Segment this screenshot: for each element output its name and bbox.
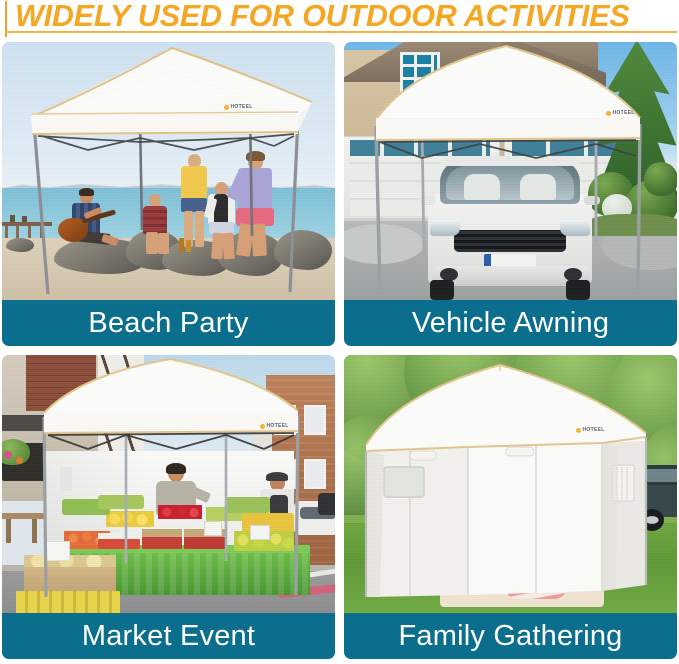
sun-icon: [576, 428, 581, 433]
brand-name: HOTEEL: [613, 110, 635, 116]
caption-vehicle-awning: Vehicle Awning: [344, 300, 677, 346]
panel-grid: HOTEEL Beach Party: [0, 42, 679, 664]
panel-family-gathering[interactable]: HOTEEL Family Gathering: [344, 355, 677, 659]
panel-beach-party[interactable]: HOTEEL Beach Party: [2, 42, 335, 346]
brand-name: HOTEEL: [231, 104, 253, 110]
brand-logo: HOTEEL: [224, 104, 253, 110]
brand-logo: HOTEEL: [606, 110, 635, 116]
sun-icon: [606, 111, 611, 116]
canopy-tent: [30, 357, 314, 607]
brand-logo: HOTEEL: [260, 423, 289, 429]
canopy-tent: [350, 42, 670, 294]
page-title: WIDELY USED FOR OUTDOOR ACTIVITIES: [15, 0, 675, 33]
photo-family-gathering: HOTEEL: [344, 355, 677, 613]
canopy-tent: [22, 46, 322, 298]
header: WIDELY USED FOR OUTDOOR ACTIVITIES: [0, 0, 679, 42]
panel-market-event[interactable]: HOTEEL Market Event: [2, 355, 335, 659]
brand-logo: HOTEEL: [576, 427, 605, 433]
caption-beach-party: Beach Party: [2, 300, 335, 346]
sun-icon: [224, 105, 229, 110]
caption-market-event: Market Event: [2, 613, 335, 659]
photo-vehicle-awning: HOTEEL: [344, 42, 677, 300]
sun-icon: [260, 424, 265, 429]
photo-market-event: HOTEEL: [2, 355, 335, 613]
panel-vehicle-awning[interactable]: HOTEEL Vehicle Awning: [344, 42, 677, 346]
photo-beach-party: HOTEEL: [2, 42, 335, 300]
caption-family-gathering: Family Gathering: [344, 613, 677, 659]
brand-name: HOTEEL: [583, 427, 605, 433]
canopy-tent-enclosed: [350, 359, 666, 611]
brand-name: HOTEEL: [267, 423, 289, 429]
